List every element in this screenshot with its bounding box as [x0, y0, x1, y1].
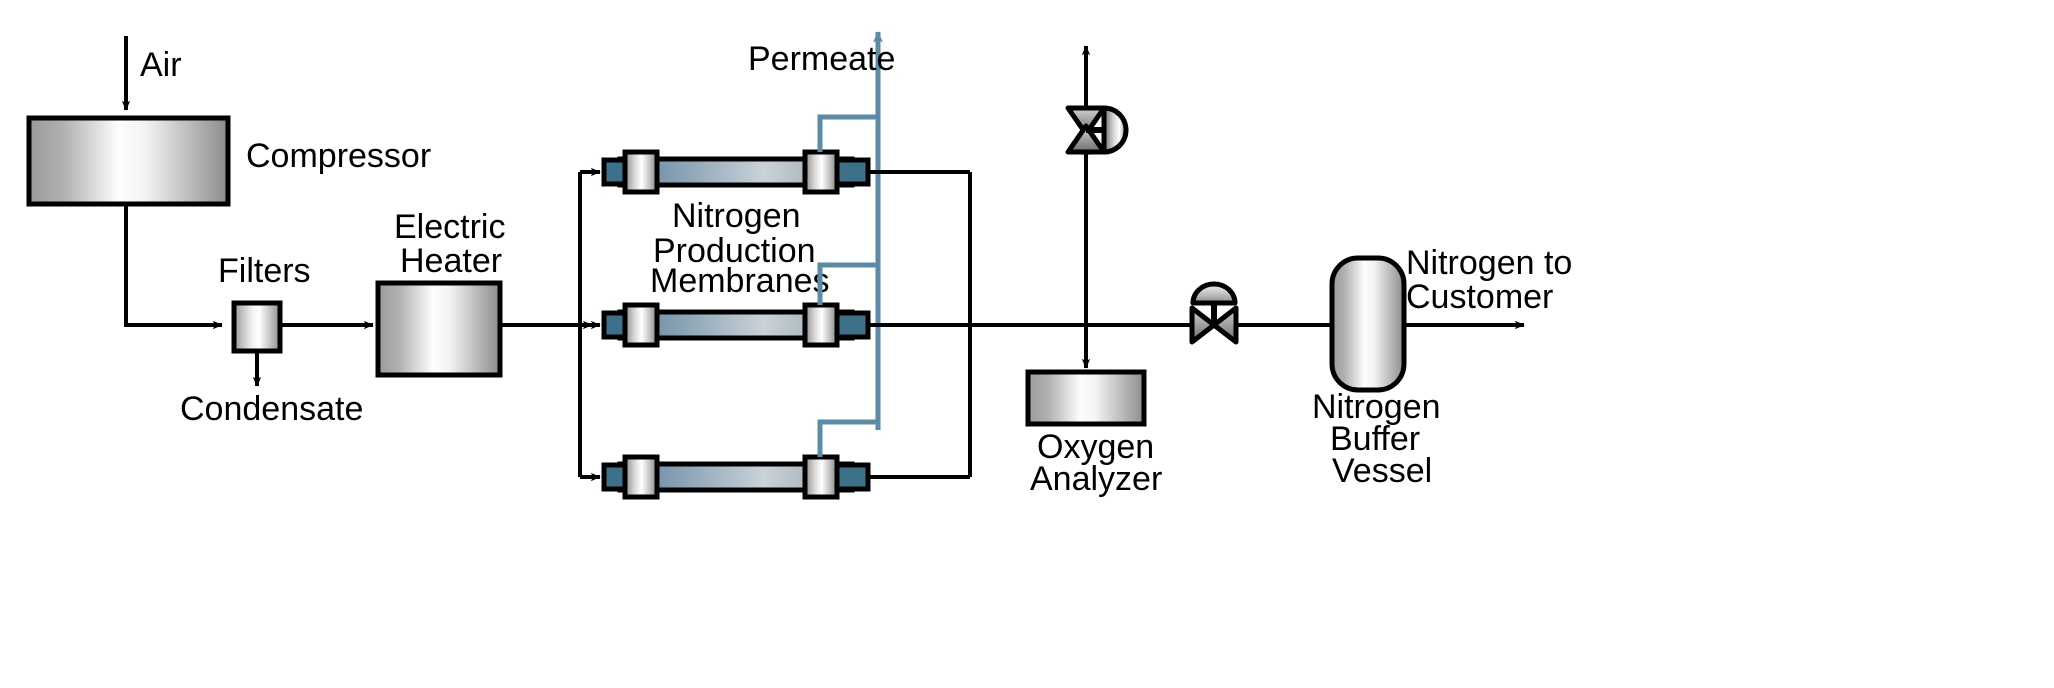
label-condensate: Condensate — [180, 390, 363, 428]
label-air: Air — [140, 46, 182, 84]
label-filters: Filters — [218, 252, 311, 290]
process-flow-diagram: Air Compressor Filters Condensate Electr… — [0, 0, 2054, 688]
label-buffer-vessel-line3: Vessel — [1332, 452, 1432, 490]
label-electric-heater-line2: Heater — [400, 242, 502, 280]
equipment-nitrogen-buffer-vessel — [1332, 258, 1404, 390]
equipment-oxygen-analyzer — [1028, 372, 1144, 424]
label-permeate: Permeate — [748, 40, 895, 78]
label-oxygen-analyzer-line2: Analyzer — [1030, 460, 1162, 498]
label-electric-heater-line1: Electric — [394, 208, 505, 246]
equipment-filters — [234, 303, 280, 351]
membrane-inlet-manifold — [580, 172, 600, 477]
equipment-electric-heater — [378, 283, 500, 375]
equipment-membrane-3 — [604, 457, 868, 497]
stream-compressed-air — [126, 204, 222, 325]
equipment-vent-valve[interactable] — [1068, 108, 1126, 152]
stream-permeate — [820, 32, 878, 457]
label-compressor: Compressor — [246, 137, 431, 175]
membrane-outlet-manifold — [868, 172, 970, 477]
equipment-membrane-1 — [604, 152, 868, 192]
equipment-membrane-2 — [604, 305, 868, 345]
equipment-compressor — [29, 118, 228, 204]
label-membranes-line3: Membranes — [650, 262, 830, 300]
equipment-product-control-valve[interactable] — [1192, 284, 1236, 342]
label-membranes-line1: Nitrogen — [672, 197, 801, 235]
label-nitrogen-to-customer-line1: Nitrogen to — [1406, 244, 1572, 282]
label-nitrogen-to-customer-line2: Customer — [1406, 278, 1553, 316]
